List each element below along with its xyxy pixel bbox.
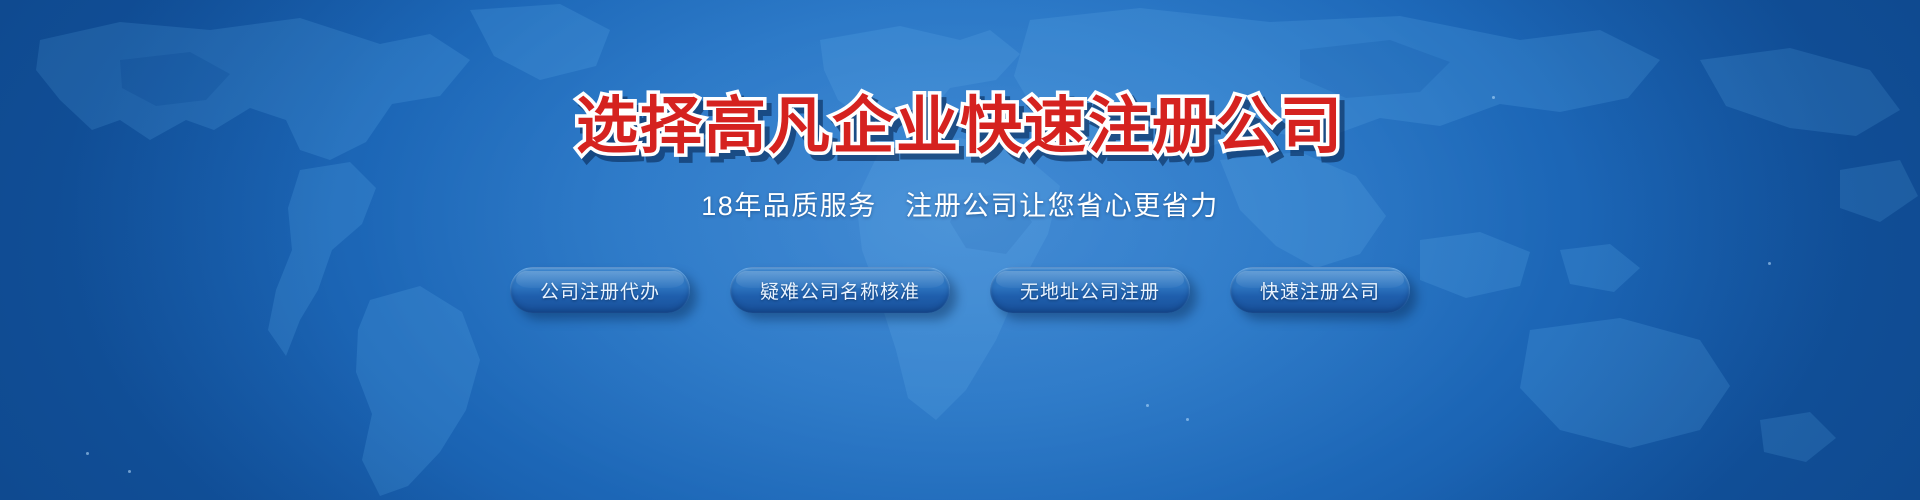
service-button-fast-registration[interactable]: 快速注册公司 — [1230, 267, 1410, 313]
service-button-no-address-registration[interactable]: 无地址公司注册 — [990, 267, 1190, 313]
service-button-company-registration-agency[interactable]: 公司注册代办 — [510, 267, 690, 313]
banner-subtitle: 18年品质服务 注册公司让您省心更省力 — [701, 184, 1219, 223]
banner-headline: 选择高凡企业快速注册公司 — [576, 96, 1344, 158]
service-button-row: 公司注册代办 疑难公司名称核准 无地址公司注册 快速注册公司 — [510, 267, 1410, 313]
service-button-difficult-name-approval[interactable]: 疑难公司名称核准 — [730, 267, 950, 313]
banner-content: 选择高凡企业快速注册公司 18年品质服务 注册公司让您省心更省力 公司注册代办 … — [0, 0, 1920, 500]
promo-banner: 选择高凡企业快速注册公司 18年品质服务 注册公司让您省心更省力 公司注册代办 … — [0, 0, 1920, 500]
